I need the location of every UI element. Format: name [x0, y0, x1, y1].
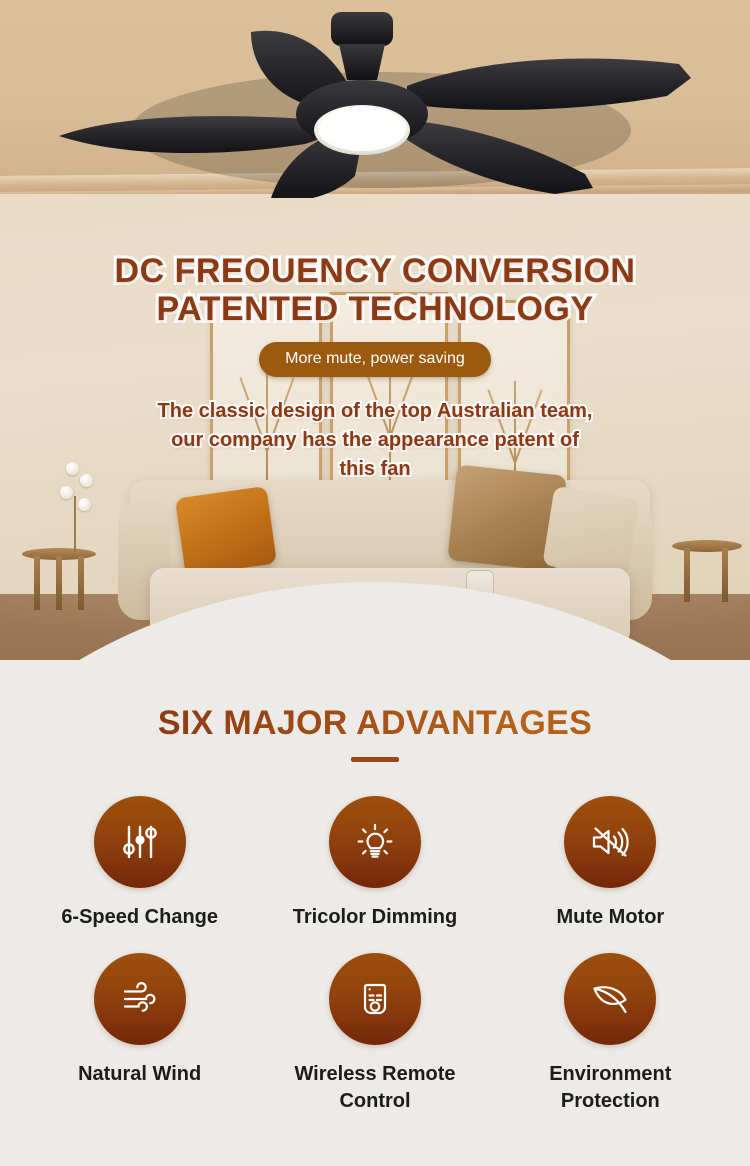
feature-item: Mute Motor: [493, 796, 728, 931]
feature-label: 6-Speed Change: [61, 904, 218, 931]
advantages-section: SIX MAJOR ADVANTAGES 6-Speed Change: [0, 660, 750, 1166]
throw-pillow-orange: [175, 486, 277, 576]
sliders-icon: [94, 796, 186, 888]
feature-label: Mute Motor: [556, 904, 664, 931]
feature-item: 6-Speed Change: [22, 796, 257, 931]
wind-icon: [94, 953, 186, 1045]
hero-subcopy-line-3: this fan: [0, 455, 750, 484]
feature-label: Natural Wind: [78, 1061, 201, 1088]
side-table-right: [672, 540, 742, 552]
speaker-mute-icon: [564, 796, 656, 888]
hero-headline-line-1: DC FREOUENCY CONVERSION: [0, 252, 750, 290]
product-detail-page: DC FREOUENCY CONVERSION PATENTED TECHNOL…: [0, 0, 750, 1166]
section-title: SIX MAJOR ADVANTAGES: [0, 704, 750, 743]
feature-grid: 6-Speed Change: [0, 796, 750, 1115]
hero-copy-block: DC FREOUENCY CONVERSION PATENTED TECHNOL…: [0, 0, 750, 484]
lightbulb-icon: [329, 796, 421, 888]
remote-control-icon: [329, 953, 421, 1045]
feature-label: Wireless RemoteControl: [294, 1061, 455, 1115]
hero-badge: More mute, power saving: [259, 342, 491, 377]
hero-subcopy: The classic design of the top Australian…: [0, 397, 750, 484]
leaf-icon: [564, 953, 656, 1045]
feature-label: EnvironmentProtection: [549, 1061, 671, 1115]
feature-label: Tricolor Dimming: [293, 904, 457, 931]
feature-item: Wireless RemoteControl: [257, 953, 492, 1115]
hero-subcopy-line-1: The classic design of the top Australian…: [0, 397, 750, 426]
hero-headline: DC FREOUENCY CONVERSION PATENTED TECHNOL…: [0, 252, 750, 328]
section-title-underline: [351, 757, 399, 762]
hero-subcopy-line-2: our company has the appearance patent of: [0, 426, 750, 455]
hero-headline-line-2: PATENTED TECHNOLOGY: [0, 290, 750, 328]
throw-pillow-cream: [542, 486, 639, 578]
feature-item: Tricolor Dimming: [257, 796, 492, 931]
feature-item: Natural Wind: [22, 953, 257, 1115]
hero-banner: DC FREOUENCY CONVERSION PATENTED TECHNOL…: [0, 0, 750, 660]
feature-item: EnvironmentProtection: [493, 953, 728, 1115]
